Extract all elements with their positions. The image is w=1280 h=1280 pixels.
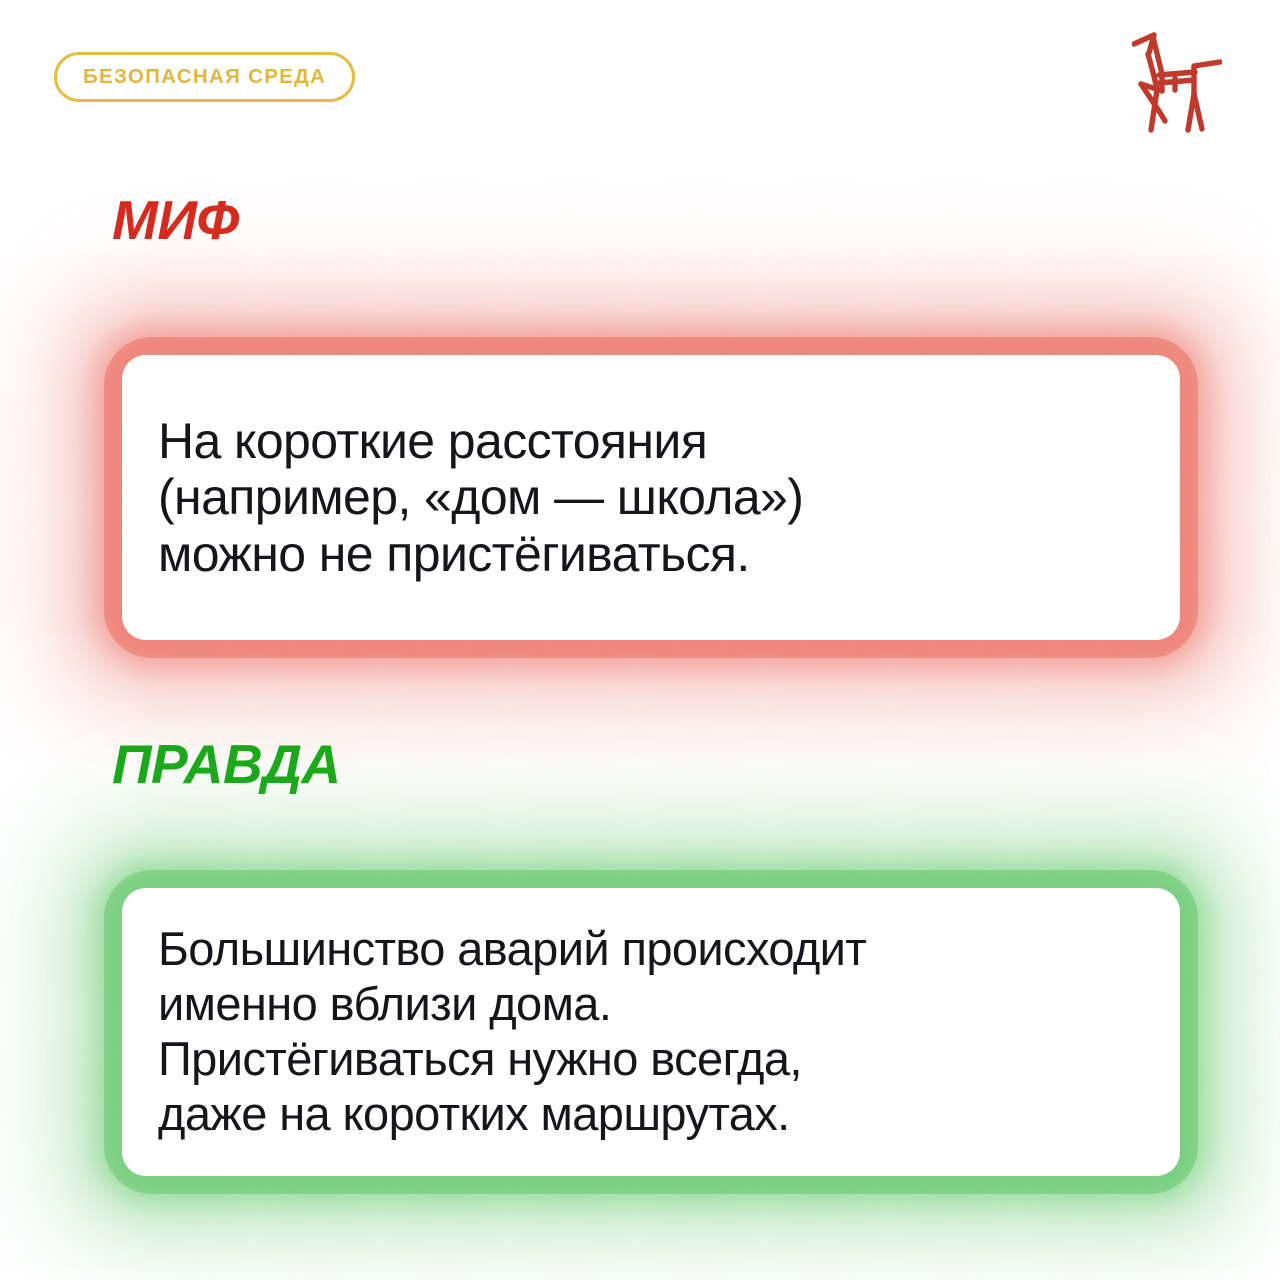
section-label-myth: МИФ [112,193,239,248]
myth-card: На короткие расстояния (например, «дом —… [122,355,1180,640]
brand-badge: БЕЗОПАСНАЯ СРЕДА [54,52,355,102]
brand-badge-label: БЕЗОПАСНАЯ СРЕДА [83,67,326,88]
myth-card-text: На короткие расстояния (например, «дом —… [158,413,803,583]
horse-line-art-logo-icon [1132,28,1222,133]
truth-card-text: Большинство аварий происходит именно вбл… [158,922,866,1142]
infographic-page: БЕЗОПАСНАЯ СРЕДА [0,0,1280,1280]
truth-card: Большинство аварий происходит именно вбл… [122,888,1180,1176]
section-label-truth: ПРАВДА [112,737,341,792]
page-header: БЕЗОПАСНАЯ СРЕДА [0,0,1280,160]
